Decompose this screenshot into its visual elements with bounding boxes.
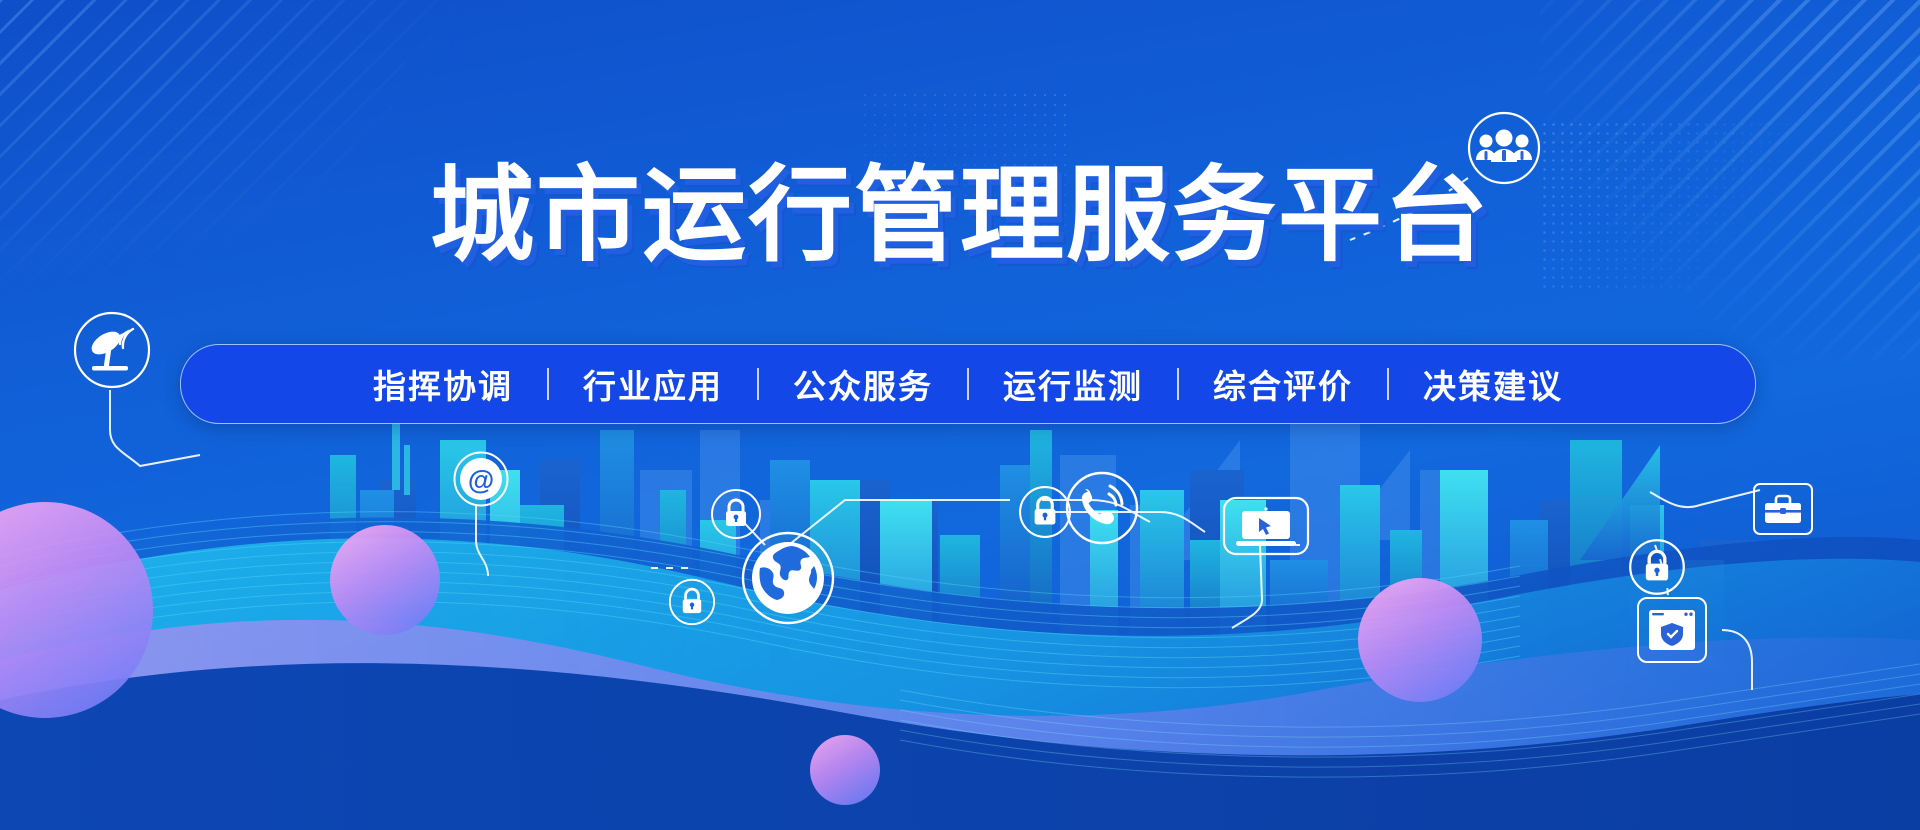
people-group-icon[interactable] bbox=[1466, 110, 1542, 186]
phone-call-icon[interactable] bbox=[1064, 470, 1140, 546]
sphere-right bbox=[1358, 578, 1482, 702]
laptop-cursor-icon[interactable] bbox=[1222, 496, 1310, 558]
browser-shield-icon[interactable] bbox=[1636, 596, 1708, 664]
svg-text:@: @ bbox=[468, 465, 494, 495]
nav-item-5[interactable]: 综合评价 bbox=[1179, 360, 1387, 408]
lock-icon-4[interactable] bbox=[1628, 538, 1686, 596]
nav-item-1[interactable]: 指挥协调 bbox=[339, 360, 547, 408]
briefcase-icon[interactable] bbox=[1752, 482, 1814, 536]
at-sign-icon[interactable]: @ bbox=[452, 450, 510, 508]
satellite-dish-icon[interactable] bbox=[72, 310, 152, 390]
sphere-bottom bbox=[810, 735, 880, 805]
nav-pill: 指挥协调 行业应用 公众服务 运行监测 综合评价 决策建议 bbox=[180, 344, 1756, 424]
lock-icon-2[interactable] bbox=[668, 578, 716, 626]
city-platform-banner: @ bbox=[0, 0, 1920, 830]
nav-item-2[interactable]: 行业应用 bbox=[549, 360, 757, 408]
page-title: 城市运行管理服务平台 bbox=[0, 160, 1920, 272]
nav-item-6[interactable]: 决策建议 bbox=[1389, 360, 1597, 408]
globe-icon[interactable] bbox=[740, 530, 836, 626]
sphere-mid-left bbox=[330, 525, 440, 635]
nav-item-4[interactable]: 运行监测 bbox=[969, 360, 1177, 408]
nav-item-3[interactable]: 公众服务 bbox=[759, 360, 967, 408]
